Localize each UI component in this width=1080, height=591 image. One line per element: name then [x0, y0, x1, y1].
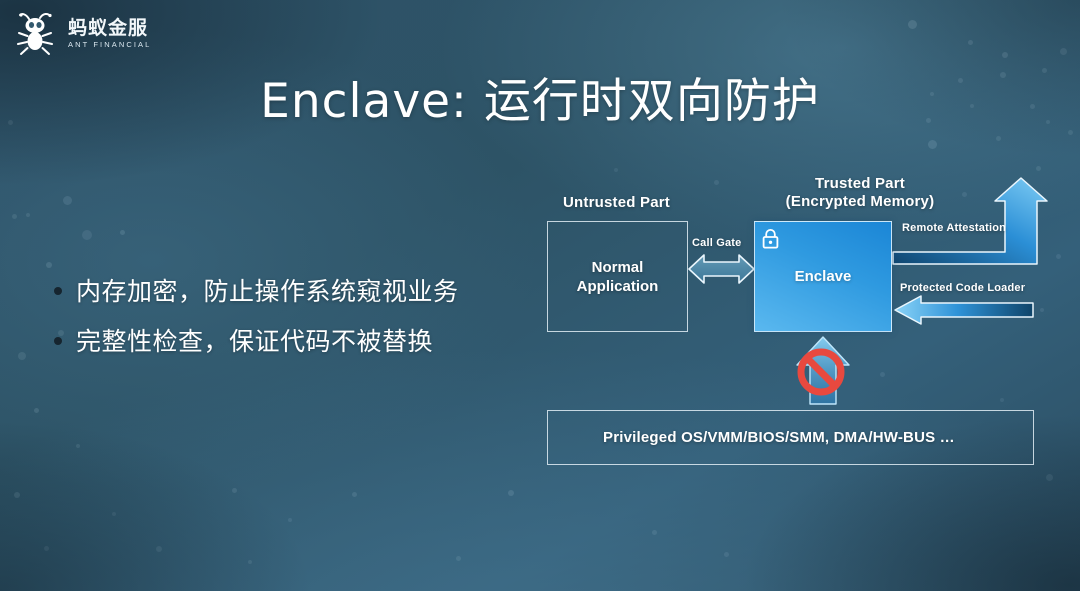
enclave-diagram: Untrusted Part Trusted Part (Encrypted M…: [0, 0, 1080, 591]
call-gate-label: Call Gate: [692, 237, 742, 249]
untrusted-part-label: Untrusted Part: [563, 194, 670, 211]
normal-application-line2: Application: [577, 277, 659, 296]
protected-code-loader-label: Protected Code Loader: [900, 282, 1025, 294]
privileged-access-arrow-icon: [797, 337, 849, 404]
lock-icon: [762, 228, 779, 249]
trusted-part-label: Trusted Part (Encrypted Memory): [745, 175, 975, 211]
normal-application-line1: Normal: [577, 258, 659, 277]
normal-application-box: Normal Application: [547, 221, 688, 332]
diagram-arrows-layer: [0, 0, 1080, 591]
protected-code-loader-arrow-icon: [895, 296, 1033, 324]
enclave-label: Enclave: [795, 268, 852, 285]
enclave-box: Enclave: [754, 221, 892, 332]
normal-application-text: Normal Application: [577, 258, 659, 296]
remote-attestation-label: Remote Attestation: [902, 222, 1006, 234]
privileged-layer-text: Privileged OS/VMM/BIOS/SMM, DMA/HW-BUS …: [603, 429, 955, 446]
privileged-layer-box: Privileged OS/VMM/BIOS/SMM, DMA/HW-BUS …: [547, 410, 1034, 465]
trusted-part-label-line1: Trusted Part: [745, 175, 975, 193]
call-gate-arrow-icon: [689, 255, 754, 283]
trusted-part-label-line2: (Encrypted Memory): [745, 193, 975, 211]
slide-canvas: 蚂蚁金服 ANT FINANCIAL Enclave: 运行时双向防护 内存加密…: [0, 0, 1080, 591]
no-entry-icon: [801, 352, 841, 392]
